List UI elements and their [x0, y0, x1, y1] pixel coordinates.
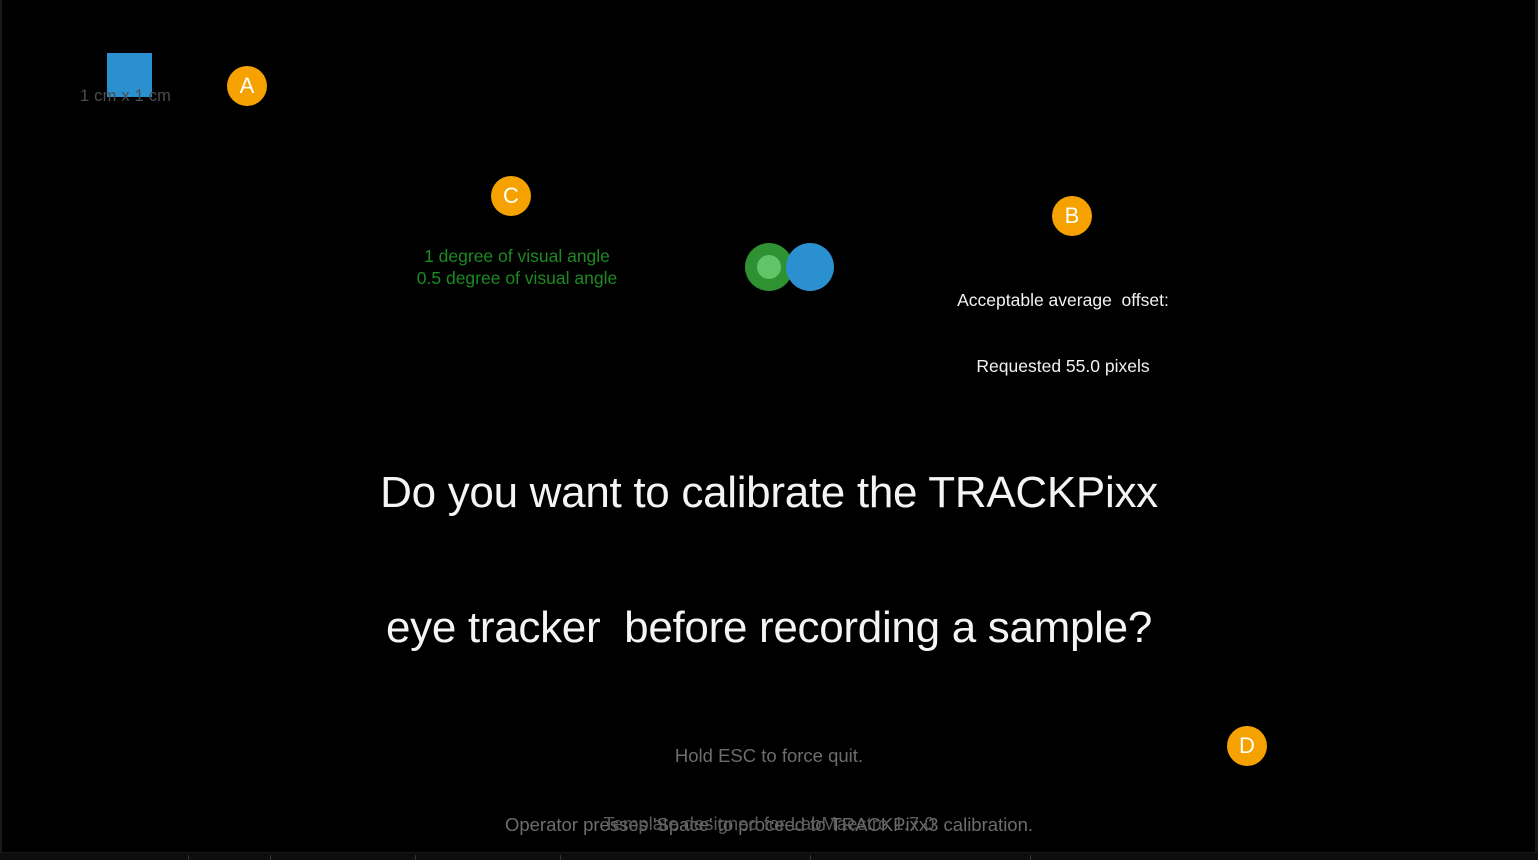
- page-title-line-1: Do you want to calibrate the TRACKPixx: [0, 470, 1538, 515]
- acceptable-offset-line-1: Acceptable average offset:: [922, 289, 1204, 311]
- calibration-prompt-screen: 1 cm x 1 cm 1 degree of visual angle 0.5…: [0, 0, 1538, 860]
- annotation-marker-d: D: [1227, 726, 1267, 766]
- taskbar-tick: [1030, 855, 1031, 860]
- page-title: Do you want to calibrate the TRACKPixx e…: [0, 380, 1538, 740]
- instruction-line-esc: Hold ESC to force quit.: [0, 744, 1538, 767]
- taskbar-tick: [415, 855, 416, 860]
- taskbar-tick: [270, 855, 271, 860]
- page-title-line-2: eye tracker before recording a sample?: [0, 605, 1538, 650]
- acceptable-offset-line-2: Requested 55.0 pixels: [922, 355, 1204, 377]
- visual-angle-line-2: 0.5 degree of visual angle: [376, 267, 658, 289]
- taskbar-strip[interactable]: [0, 852, 1538, 860]
- blue-target-circle-icon: [786, 243, 834, 291]
- annotation-marker-c: C: [491, 176, 531, 216]
- taskbar-tick: [810, 855, 811, 860]
- taskbar-tick: [188, 855, 189, 860]
- green-target-inner-dot-icon: [757, 255, 781, 279]
- visual-angle-legend: 1 degree of visual angle 0.5 degree of v…: [376, 245, 658, 289]
- operator-instructions: Hold ESC to force quit. Operator presses…: [0, 698, 1538, 860]
- footer-template-version: Template designed for LabMaestro 1.7.0: [0, 813, 1538, 835]
- annotation-marker-a: A: [227, 66, 267, 106]
- taskbar-tick: [560, 855, 561, 860]
- annotation-marker-b: B: [1052, 196, 1092, 236]
- visual-angle-line-1: 1 degree of visual angle: [376, 245, 658, 267]
